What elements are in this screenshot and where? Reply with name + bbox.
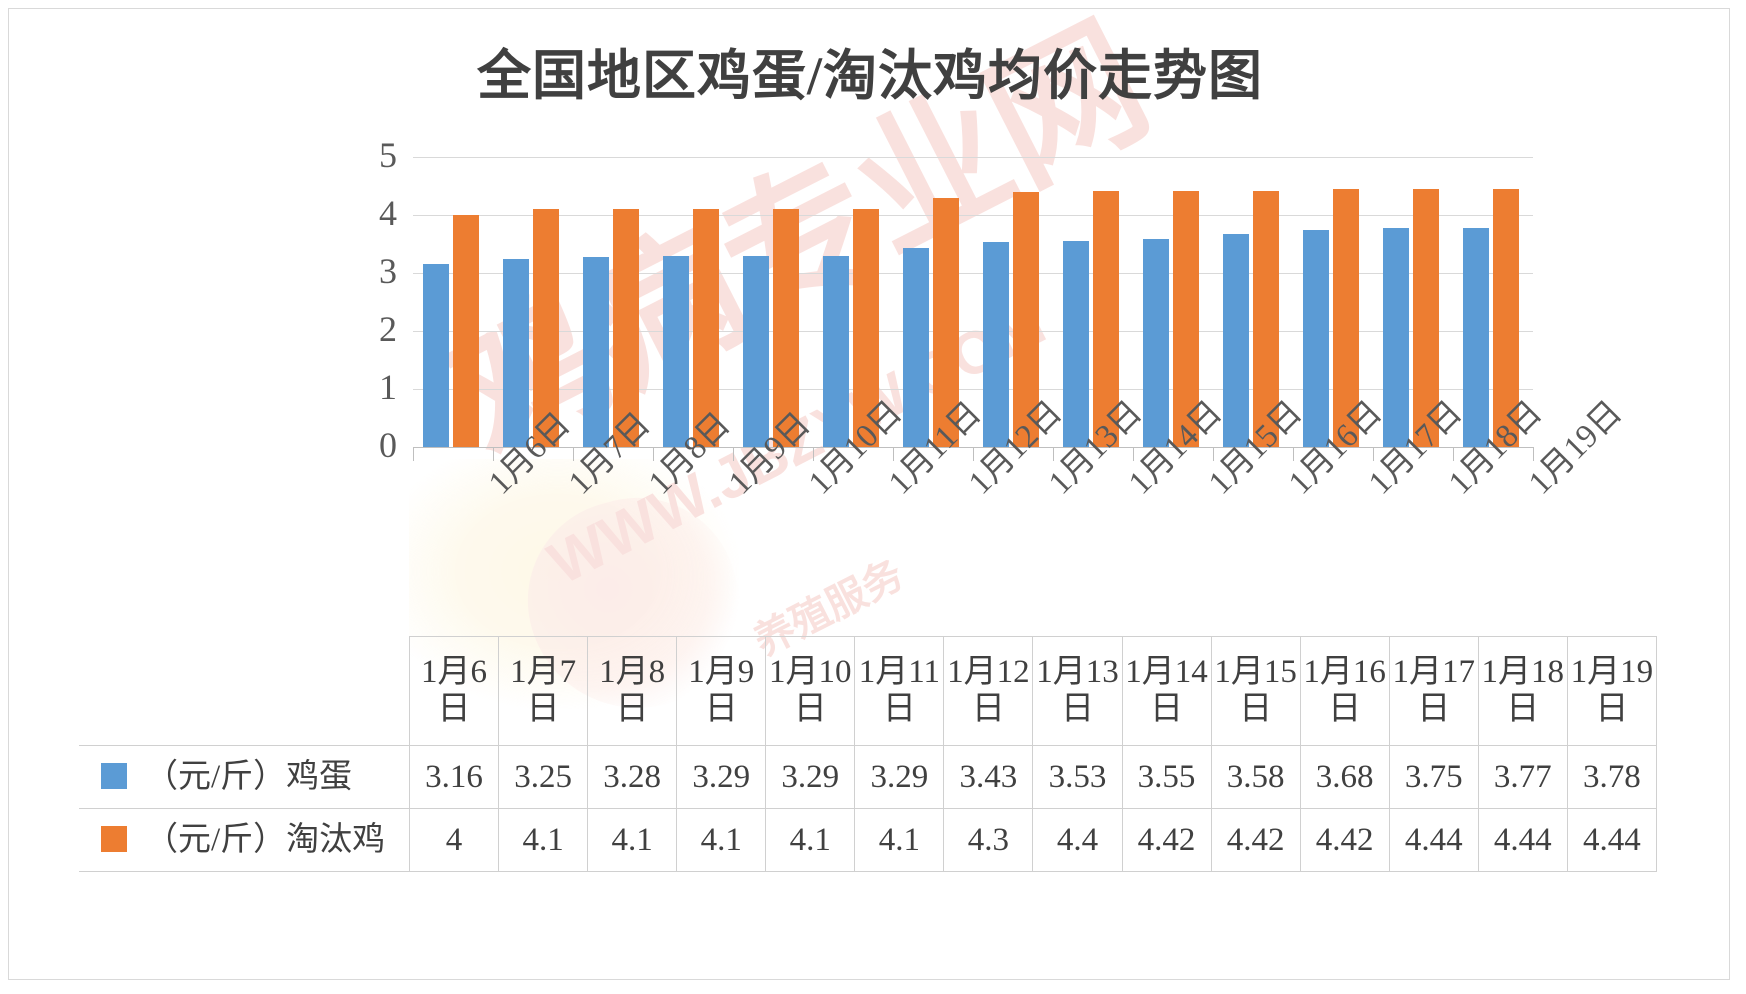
table-cell-value: 3.77 [1478,746,1567,809]
x-axis-tick [1453,447,1454,461]
chart-card: 鸡病专业网 WWW.JBZYW.COM 养殖服务 全国地区鸡蛋/淘汰鸡均价走势图… [8,8,1730,980]
x-axis-label: 1月9日 [715,469,749,503]
bar-egg [663,256,689,447]
table-cell-value: 4.1 [855,809,944,872]
bar-group [493,157,573,447]
x-axis-tick [413,447,414,461]
x-axis-label: 1月15日 [1195,469,1229,503]
x-axis-label: 1月11日 [875,469,909,503]
x-axis-tick [973,447,974,461]
table-cell-value: 4.42 [1122,809,1211,872]
y-axis-tick-label: 5 [337,137,397,173]
x-axis-label: 1月7日 [555,469,589,503]
y-axis-tick-label: 4 [337,195,397,231]
x-axis-label: 1月19日 [1515,469,1549,503]
x-axis-tick [1373,447,1374,461]
table-cell-value: 3.29 [766,746,855,809]
bar-hen [453,215,479,447]
bar-egg [1303,230,1329,448]
bar-egg [1143,239,1169,447]
bar-group [653,157,733,447]
table-row: （元/斤）鸡蛋3.163.253.283.293.293.293.433.533… [79,746,1657,809]
table-row-header: （元/斤）鸡蛋 [79,746,410,809]
table-cell-value: 3.78 [1567,746,1656,809]
table-date-header: 1月9日 [677,637,766,746]
bar-egg [583,257,609,447]
data-table: 1月6日1月7日1月8日1月9日1月10日1月11日1月12日1月13日1月14… [79,636,1657,872]
table-date-header: 1月17日 [1389,637,1478,746]
table-cell-value: 4.42 [1300,809,1389,872]
table-cell-value: 4.1 [677,809,766,872]
table-date-header: 1月11日 [855,637,944,746]
bar-egg [823,256,849,447]
bar-group [573,157,653,447]
x-axis-tick [493,447,494,461]
table-body: （元/斤）鸡蛋3.163.253.283.293.293.293.433.533… [79,746,1657,872]
x-axis-label: 1月6日 [475,469,509,503]
table-cell-value: 4.44 [1389,809,1478,872]
x-axis-label: 1月13日 [1035,469,1069,503]
table-date-header: 1月19日 [1567,637,1656,746]
bar-group [413,157,493,447]
x-axis-tick [1133,447,1134,461]
table-cell-value: 3.55 [1122,746,1211,809]
x-axis-label: 1月8日 [635,469,669,503]
table-cell-value: 4 [410,809,499,872]
legend-swatch-icon [101,763,127,789]
x-axis-label: 1月18日 [1435,469,1469,503]
table-cell-value: 3.16 [410,746,499,809]
y-axis-tick-label: 3 [337,253,397,289]
x-axis-label: 1月10日 [795,469,829,503]
table-cell-value: 4.44 [1478,809,1567,872]
table-cell-value: 3.58 [1211,746,1300,809]
table-date-header: 1月15日 [1211,637,1300,746]
table-cell-value: 3.53 [1033,746,1122,809]
legend-label: （元/斤）鸡蛋 [145,759,352,795]
table-cell-value: 3.43 [944,746,1033,809]
table-cell-value: 3.75 [1389,746,1478,809]
table-cell-value: 4.42 [1211,809,1300,872]
x-axis-label: 1月12日 [955,469,989,503]
table-date-header: 1月10日 [766,637,855,746]
bar-egg [743,256,769,447]
table-row: （元/斤）淘汰鸡44.14.14.14.14.14.34.44.424.424.… [79,809,1657,872]
table-cell-value: 4.1 [766,809,855,872]
table-date-header: 1月6日 [410,637,499,746]
table-header: 1月6日1月7日1月8日1月9日1月10日1月11日1月12日1月13日1月14… [79,637,1657,746]
table-date-header: 1月8日 [588,637,677,746]
x-axis-label: 1月14日 [1115,469,1149,503]
table-cell-value: 3.68 [1300,746,1389,809]
x-axis-tick [573,447,574,461]
legend-label: （元/斤）淘汰鸡 [145,822,385,858]
table-date-header: 1月16日 [1300,637,1389,746]
y-axis-tick-label: 2 [337,311,397,347]
table-date-header: 1月13日 [1033,637,1122,746]
table-cell-value: 3.29 [855,746,944,809]
x-axis-tick [1053,447,1054,461]
bar-egg [503,259,529,448]
x-axis-tick [813,447,814,461]
table-date-header: 1月18日 [1478,637,1567,746]
chart-title: 全国地区鸡蛋/淘汰鸡均价走势图 [9,31,1730,110]
table-cell-value: 4.1 [499,809,588,872]
bar-egg [1463,228,1489,447]
table-date-header: 1月7日 [499,637,588,746]
bar-egg [1223,234,1249,447]
bar-egg [423,264,449,447]
table-cell-value: 3.28 [588,746,677,809]
table-date-header: 1月12日 [944,637,1033,746]
table-header-row: 1月6日1月7日1月8日1月9日1月10日1月11日1月12日1月13日1月14… [79,637,1657,746]
x-axis-tick [1533,447,1534,461]
table-cell-value: 3.25 [499,746,588,809]
x-axis-tick [1213,447,1214,461]
bar-egg [983,242,1009,447]
bar-egg [1063,241,1089,447]
table-cell-value: 4.4 [1033,809,1122,872]
y-axis-tick-label: 0 [337,427,397,463]
x-axis-tick [1293,447,1294,461]
table-row-header: （元/斤）淘汰鸡 [79,809,410,872]
x-axis-label: 1月17日 [1355,469,1389,503]
bar-egg [1383,228,1409,447]
legend-swatch-icon [101,826,127,852]
x-axis-tick [893,447,894,461]
x-axis-tick [653,447,654,461]
table-cell-value: 4.44 [1567,809,1656,872]
table-cell-value: 4.3 [944,809,1033,872]
table-cell-value: 3.29 [677,746,766,809]
table-cell-value: 4.1 [588,809,677,872]
x-axis-tick [733,447,734,461]
y-axis-tick-label: 1 [337,369,397,405]
table-date-header: 1月14日 [1122,637,1211,746]
bar-group [733,157,813,447]
plot-area: 012345 1月6日1月7日1月8日1月9日1月10日1月11日1月12日1月… [413,157,1533,447]
table-corner-cell [79,637,410,746]
x-axis-label: 1月16日 [1275,469,1309,503]
